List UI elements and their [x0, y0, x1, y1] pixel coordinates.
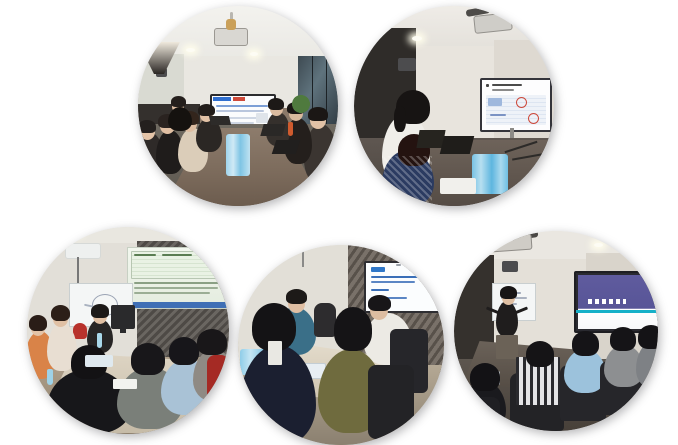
collage-photo-bottom-left[interactable] [27, 227, 229, 434]
hair [572, 331, 599, 356]
meeting-room-scene-1 [138, 6, 338, 206]
laptop [440, 136, 474, 154]
water-bottles [472, 154, 508, 194]
hair [368, 295, 391, 311]
wall-air-conditioner [65, 243, 101, 259]
collage-photo-top-left[interactable] [138, 6, 338, 206]
laptop [260, 124, 285, 136]
hair [169, 337, 199, 365]
chair [73, 323, 87, 339]
projection-screen [127, 247, 229, 309]
potted-plant [290, 92, 312, 122]
chair [314, 303, 336, 337]
hair [29, 315, 47, 331]
hair [171, 96, 186, 107]
taskbar [128, 302, 229, 308]
hair [610, 327, 636, 351]
hair [131, 343, 165, 375]
collage-photo-bottom-right[interactable] [454, 231, 658, 431]
ceiling-downlight [250, 52, 258, 56]
collage-photo-top-right[interactable] [354, 6, 554, 206]
meeting-room-scene-4 [238, 245, 444, 445]
screen-header-red [233, 97, 245, 101]
presenter-silhouette [496, 301, 518, 337]
ceiling-projector [489, 234, 532, 253]
hair [334, 307, 372, 351]
ceiling-downlight [594, 243, 603, 247]
slide-accent-bar [576, 310, 658, 313]
hair [198, 104, 215, 116]
hair [268, 98, 284, 110]
mesh-chair [368, 365, 414, 439]
water-bottle [47, 369, 53, 385]
cable [302, 245, 304, 267]
wall-display-screen [480, 78, 552, 132]
slide-title-text [588, 299, 627, 304]
hair [91, 304, 109, 318]
desktop-monitor [111, 305, 135, 329]
hair [638, 325, 658, 349]
water-bottle [288, 122, 293, 136]
monitor-stand [120, 327, 126, 333]
water-bottles [226, 134, 250, 176]
laptop [209, 116, 231, 125]
training-room-scene-3 [27, 227, 229, 434]
ceiling-downlight [186, 48, 195, 52]
ceiling-downlight [412, 36, 422, 41]
hair [286, 289, 307, 304]
chair [207, 355, 229, 397]
ceiling-projector [214, 28, 248, 46]
photo-collage [0, 0, 678, 445]
wall-display-screen [574, 271, 658, 333]
hair [500, 286, 517, 299]
projector-lens [226, 19, 236, 30]
mesh-chair [454, 397, 500, 431]
laptop [272, 140, 301, 154]
ceiling-downlight [69, 229, 81, 234]
meeting-room-scene-2 [354, 6, 554, 206]
hair [197, 329, 227, 355]
wall-speaker [502, 261, 518, 272]
person-silhouette [168, 107, 192, 131]
water-bottle [97, 333, 102, 348]
collage-photo-bottom-center[interactable] [238, 245, 444, 445]
wall-speaker [398, 58, 416, 71]
hair [470, 363, 500, 391]
hair-strand [394, 106, 406, 132]
training-room-scene-5 [454, 231, 658, 431]
hair [51, 305, 70, 321]
screen-header-blue [213, 97, 231, 101]
hair [526, 341, 554, 367]
hair [138, 120, 156, 133]
cable [77, 257, 79, 285]
